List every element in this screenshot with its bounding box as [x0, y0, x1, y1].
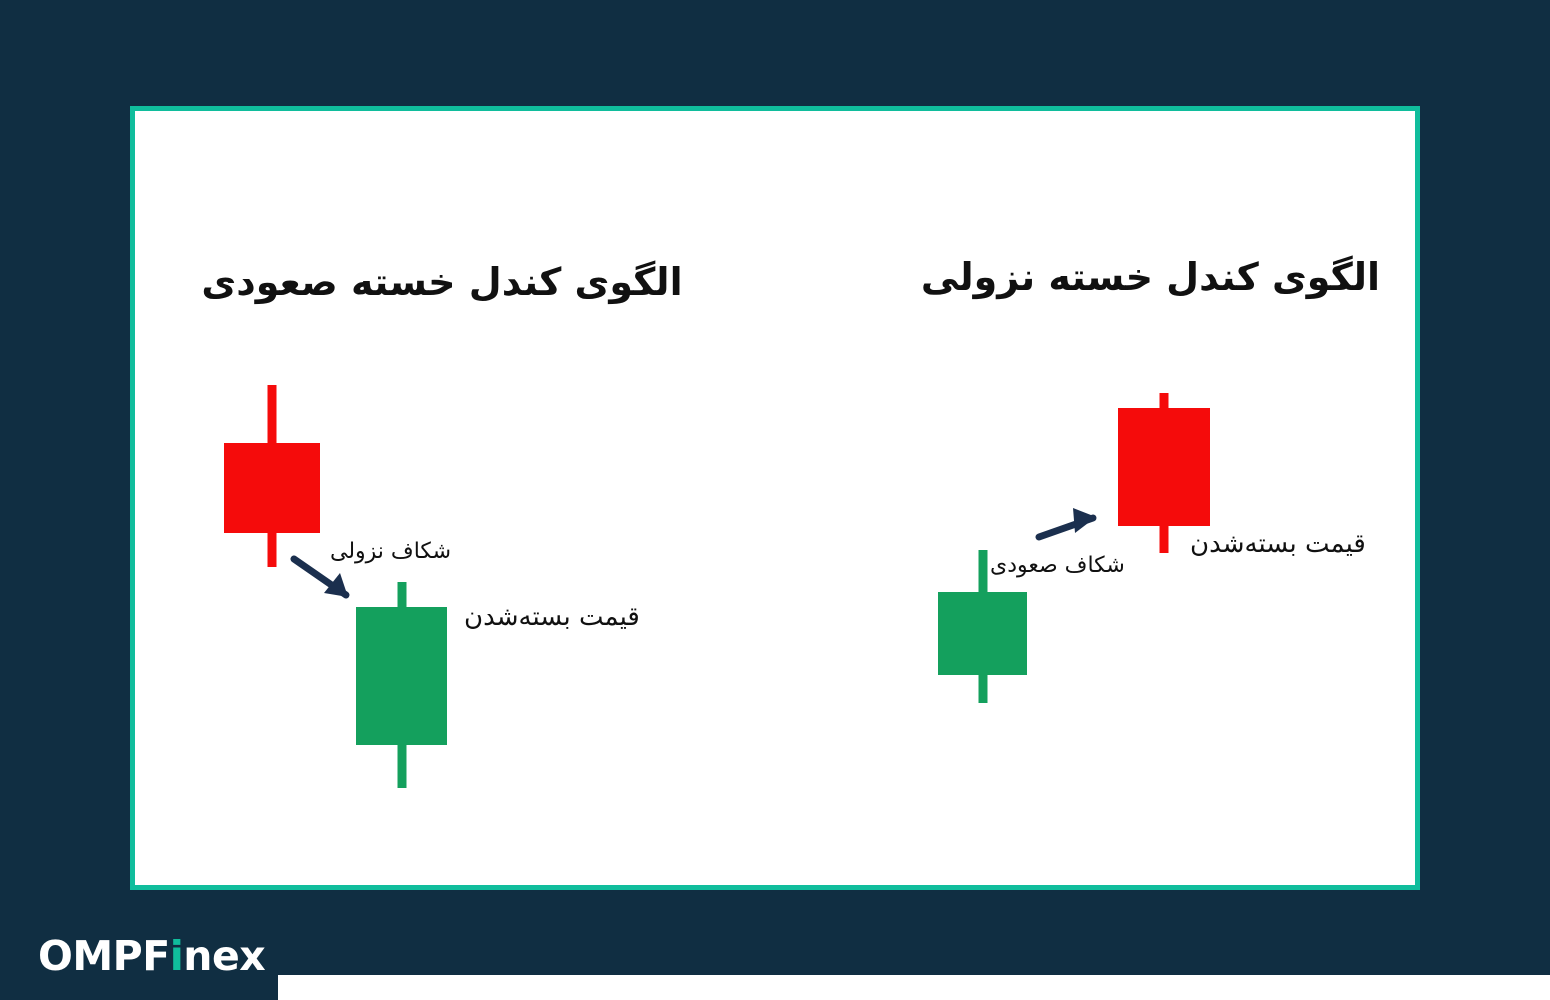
panel-title-bearish: الگوی کندل خسته نزولی [960, 258, 1380, 296]
bottom-white-band [278, 975, 1550, 1000]
bearish-panel-gap-label: شکاف صعودی [990, 555, 1125, 577]
candle-body [938, 592, 1027, 675]
illustration-card: الگوی کندل خسته صعودی شکاف نزولی قیمت بس… [130, 106, 1420, 890]
panel-bearish-exhaustion: الگوی کندل خسته نزولی شکاف صعودی قیمت بس… [780, 111, 1425, 885]
bearish-panel-closing-price-label: قیمت بسته‌شدن [1190, 531, 1366, 557]
bullish-panel-first-candle-red [224, 385, 320, 567]
candle-body [356, 607, 447, 745]
gap-arrow-icon [1035, 506, 1105, 546]
logo-accent-letter: i [170, 932, 184, 980]
bullish-panel-closing-price-label: قیمت بسته‌شدن [464, 604, 640, 630]
panel-bullish-exhaustion: الگوی کندل خسته صعودی شکاف نزولی قیمت بس… [135, 111, 780, 885]
brand-logo: OMPFinex [38, 936, 265, 977]
logo-part-one: OMPF [38, 932, 170, 980]
bullish-panel-gap-label: شکاف نزولی [330, 541, 451, 563]
panel-title-bullish: الگوی کندل خسته صعودی [187, 263, 697, 301]
candle-body [1118, 408, 1210, 526]
logo-part-two: nex [183, 932, 265, 980]
candle-body [224, 443, 320, 533]
bullish-panel-second-candle-green [356, 582, 447, 788]
